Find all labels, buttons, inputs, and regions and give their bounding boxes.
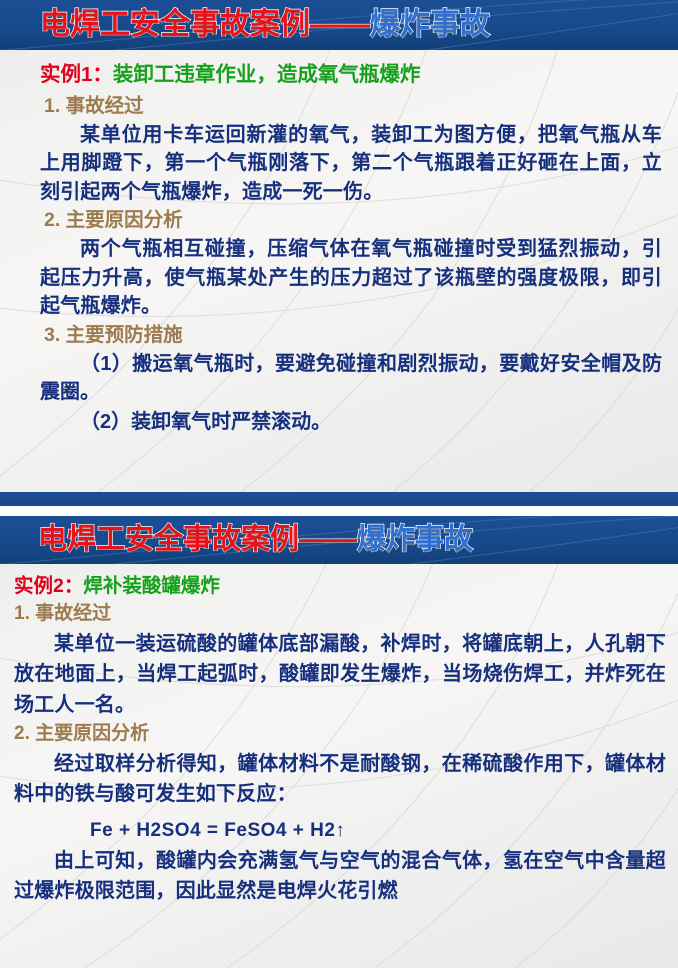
slide-1-section-3-item-1: （1）搬运氧气瓶时，要避免碰撞和剧烈振动，要戴好安全帽及防震圈。 xyxy=(40,350,662,407)
slide-1-section-3-item-2: （2）装卸氧气时严禁滚动。 xyxy=(40,408,662,436)
slide-1-section-3-heading: 3. 主要预防措施 xyxy=(44,323,662,348)
slide-deck: 电焊工安全事故案例——爆炸事故 实例1：装卸工违章作业，造成氧气瓶爆炸 1. 事… xyxy=(0,0,678,968)
slide-1-title-accent: 爆炸事故 xyxy=(370,8,490,41)
slide-2-section-1-heading: 1. 事故经过 xyxy=(14,602,666,627)
slide-1-title-main: 电焊工安全事故案例—— xyxy=(40,8,370,41)
slide-1: 电焊工安全事故案例——爆炸事故 实例1：装卸工违章作业，造成氧气瓶爆炸 1. 事… xyxy=(0,0,678,506)
slide-2-example-line: 实例2：焊补装酸罐爆炸 xyxy=(14,574,666,598)
slide-2-section-2-paragraph: 经过取样分析得知，罐体材料不是耐酸钢，在稀硫酸作用下，罐体材料中的铁与酸可发生如… xyxy=(14,749,666,810)
slide-2-chemical-formula: Fe + H2SO4 = FeSO4 + H2↑ xyxy=(14,820,666,842)
slide-2-section-1-paragraph: 某单位一装运硫酸的罐体底部漏酸，补焊时，将罐底朝上，人孔朝下放在地面上，当焊工起… xyxy=(14,629,666,720)
slide-2-example-label: 实例2： xyxy=(14,575,83,597)
slide-2-section-2-paragraph-after: 由上可知，酸罐内会充满氢气与空气的混合气体，氢在空气中含量超过爆炸极限范围，因此… xyxy=(14,846,666,907)
slide-1-footer-bar xyxy=(0,492,678,506)
slide-2-title-main: 电焊工安全事故案例—— xyxy=(38,524,357,556)
slide-2-section-2-heading: 2. 主要原因分析 xyxy=(14,722,666,747)
slide-1-header: 电焊工安全事故案例——爆炸事故 xyxy=(0,0,678,50)
slide-2-title: 电焊工安全事故案例——爆炸事故 xyxy=(38,526,473,555)
slide-1-example-label: 实例1： xyxy=(40,63,113,86)
slide-1-example-line: 实例1：装卸工违章作业，造成氧气瓶爆炸 xyxy=(40,62,662,88)
slide-1-section-2-paragraph: 两个气瓶相互碰撞，压缩气体在氧气瓶碰撞时受到猛烈振动，引起压力升高，使气瓶某处产… xyxy=(40,235,662,320)
slide-1-title: 电焊工安全事故案例——爆炸事故 xyxy=(40,10,490,40)
slide-1-example-text: 装卸工违章作业，造成氧气瓶爆炸 xyxy=(113,63,421,86)
slide-1-section-2-heading: 2. 主要原因分析 xyxy=(44,208,662,233)
slide-1-section-1-paragraph: 某单位用卡车运回新灌的氧气，装卸工为图方便，把氧气瓶从车上用脚蹬下，第一个气瓶刚… xyxy=(40,121,662,206)
slide-2: 电焊工安全事故案例——爆炸事故 实例2：焊补装酸罐爆炸 1. 事故经过 某单位一… xyxy=(0,516,678,968)
slide-2-title-accent: 爆炸事故 xyxy=(357,524,473,556)
slide-1-body: 实例1：装卸工违章作业，造成氧气瓶爆炸 1. 事故经过 某单位用卡车运回新灌的氧… xyxy=(0,50,678,436)
slide-2-header: 电焊工安全事故案例——爆炸事故 xyxy=(0,516,678,564)
slide-2-example-text: 焊补装酸罐爆炸 xyxy=(83,575,220,597)
slide-1-section-1-heading: 1. 事故经过 xyxy=(44,94,662,119)
slide-2-body: 实例2：焊补装酸罐爆炸 1. 事故经过 某单位一装运硫酸的罐体底部漏酸，补焊时，… xyxy=(0,564,678,906)
